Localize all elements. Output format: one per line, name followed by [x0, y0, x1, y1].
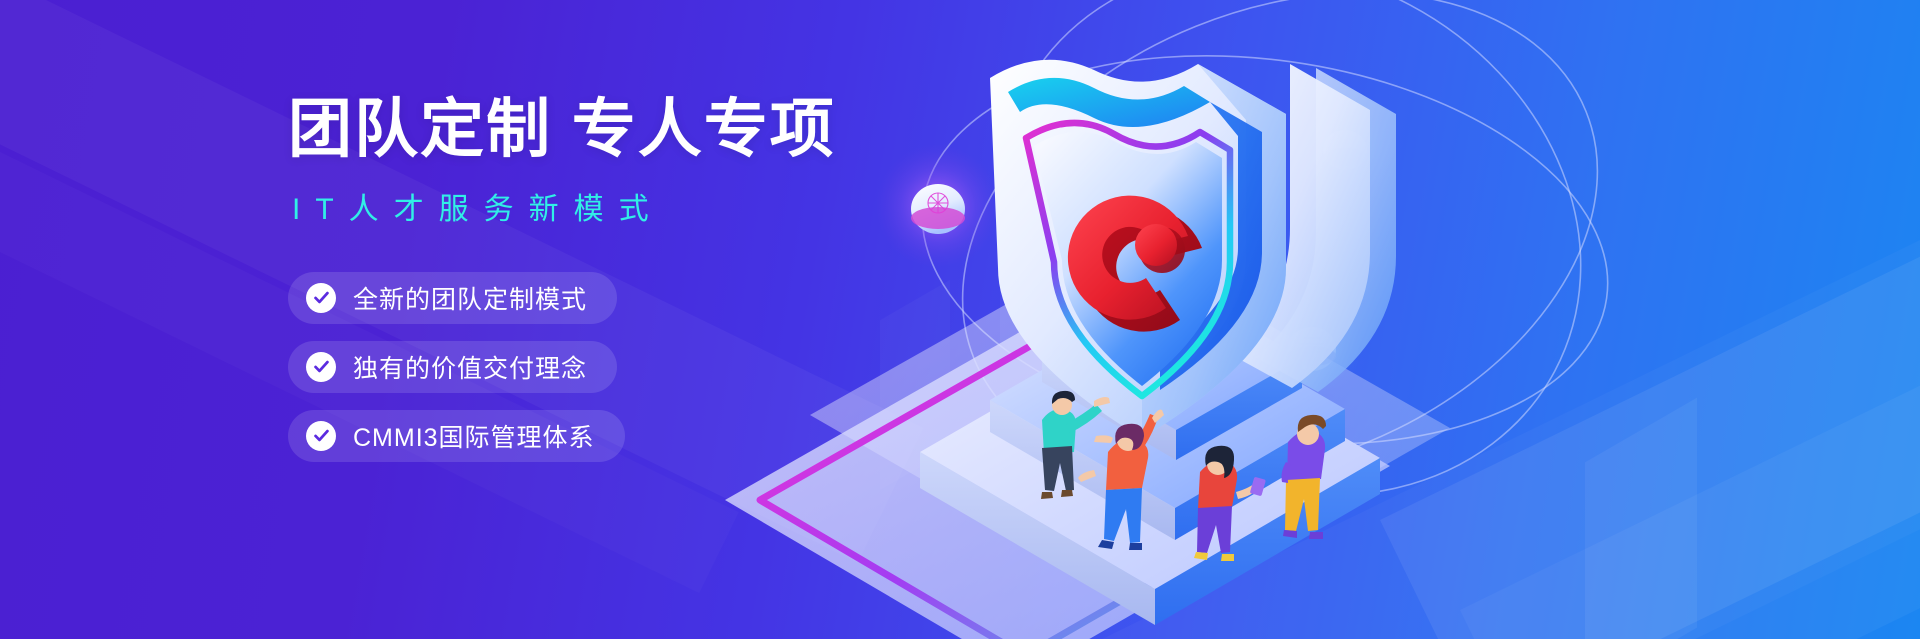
check-icon — [306, 352, 336, 382]
feature-pill-label: 全新的团队定制模式 — [353, 280, 587, 316]
hero-banner: 团队定制 专人专项 IT人才服务新模式 全新的团队定制模式 独有的价值交付理念 … — [0, 0, 1920, 639]
page-title: 团队定制 专人专项 — [288, 92, 1048, 168]
hero-text-column: 团队定制 专人专项 IT人才服务新模式 全新的团队定制模式 独有的价值交付理念 … — [288, 92, 1048, 462]
feature-pill-label: CMMI3国际管理体系 — [353, 418, 595, 454]
feature-pill-3[interactable]: CMMI3国际管理体系 — [288, 410, 625, 462]
feature-pill-1[interactable]: 全新的团队定制模式 — [288, 272, 617, 324]
page-subtitle: IT人才服务新模式 — [288, 184, 1048, 228]
check-icon — [306, 283, 336, 313]
feature-list: 全新的团队定制模式 独有的价值交付理念 CMMI3国际管理体系 — [288, 272, 1048, 462]
check-icon — [306, 421, 336, 451]
feature-pill-label: 独有的价值交付理念 — [353, 349, 587, 385]
feature-pill-2[interactable]: 独有的价值交付理念 — [288, 341, 617, 393]
